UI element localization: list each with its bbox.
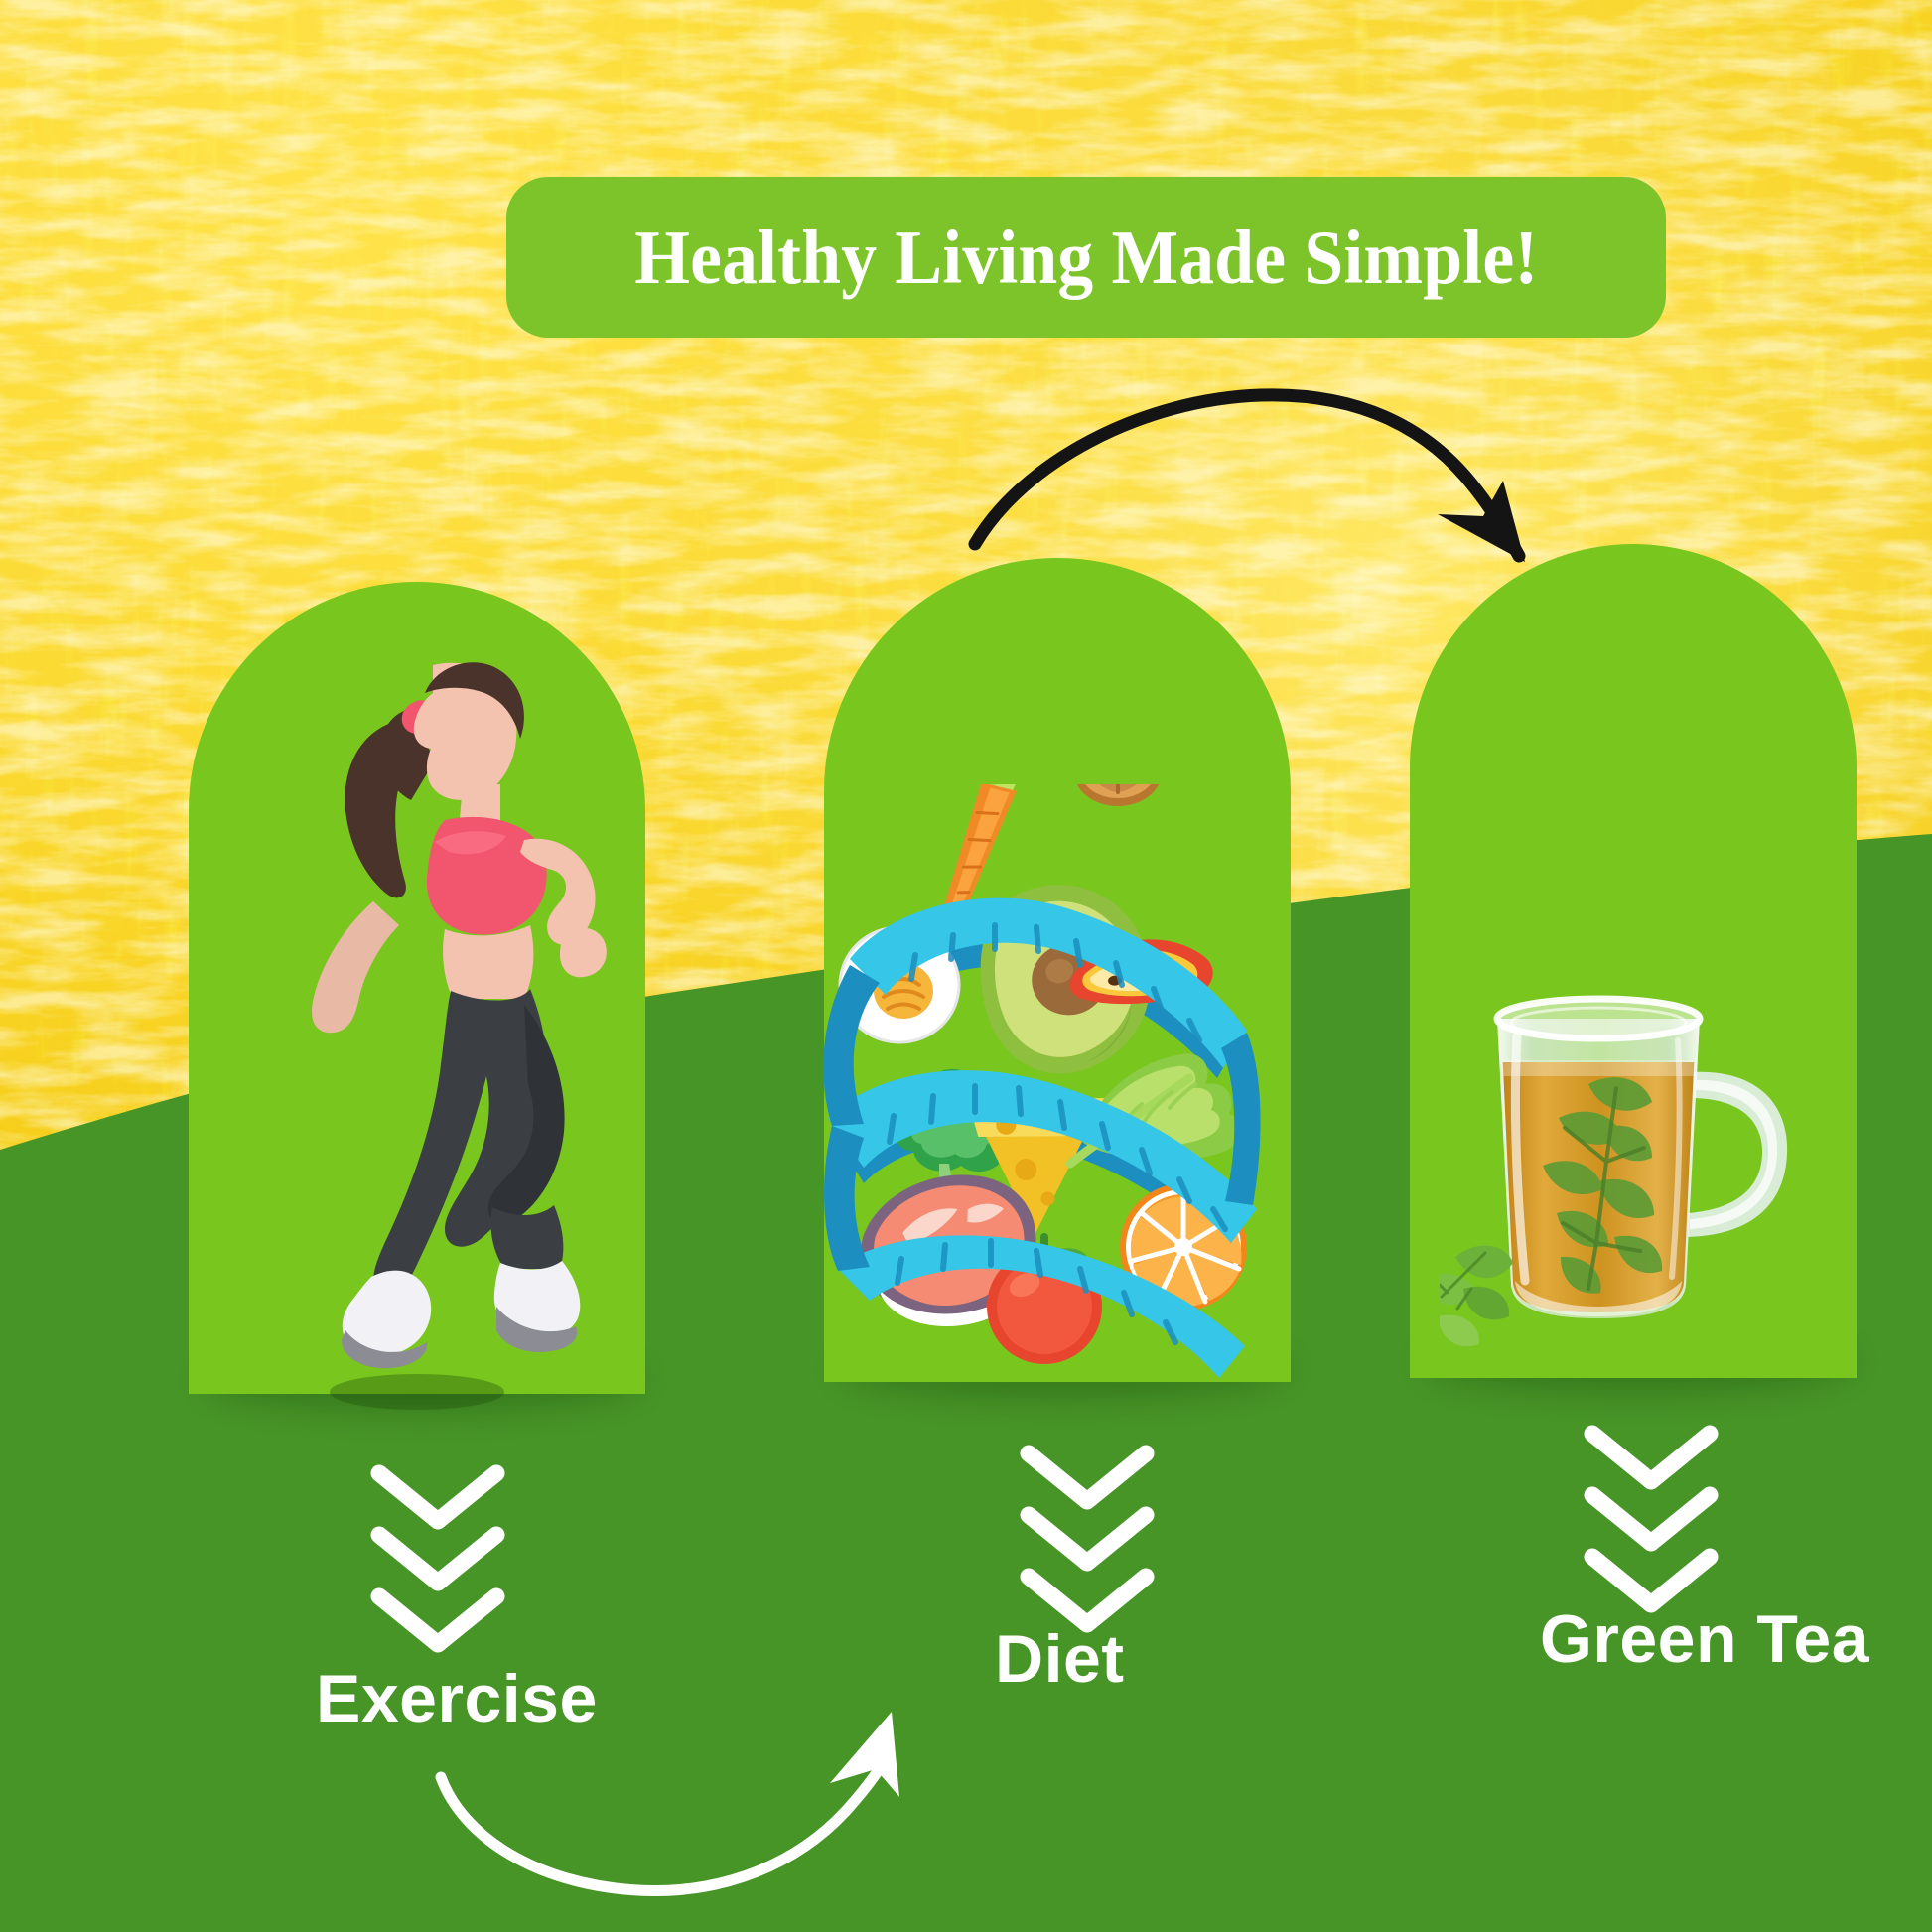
chevron-down-icon	[1592, 1557, 1710, 1604]
chevron-down-icon	[1592, 1434, 1710, 1481]
chevron-down-icon	[379, 1535, 496, 1583]
chevron-down-icon	[1029, 1515, 1146, 1563]
chevron-down-icon	[1029, 1453, 1146, 1501]
curved-arrow-up-right-icon	[397, 1678, 1013, 1926]
chevron-down-icon	[379, 1473, 496, 1521]
page-title: Healthy Living Made Simple!	[634, 213, 1538, 302]
chevron-group-green-tea	[1567, 1420, 1735, 1618]
chevron-group-diet	[1003, 1440, 1172, 1638]
chevron-down-icon	[1029, 1577, 1146, 1624]
step-label-green-tea: Green Tea	[1540, 1600, 1869, 1678]
step-label-diet: Diet	[995, 1620, 1124, 1698]
poster-canvas: Healthy Living Made Simple!	[0, 0, 1932, 1932]
chevron-down-icon	[1592, 1495, 1710, 1543]
chevron-group-exercise	[353, 1459, 522, 1658]
title-banner: Healthy Living Made Simple!	[506, 177, 1666, 338]
running-woman-illustration	[250, 635, 667, 1430]
healthy-food-with-measuring-tape-illustration	[820, 784, 1297, 1380]
glass-mug-of-green-tea-with-mint	[1440, 953, 1857, 1350]
chevron-down-icon	[379, 1596, 496, 1644]
